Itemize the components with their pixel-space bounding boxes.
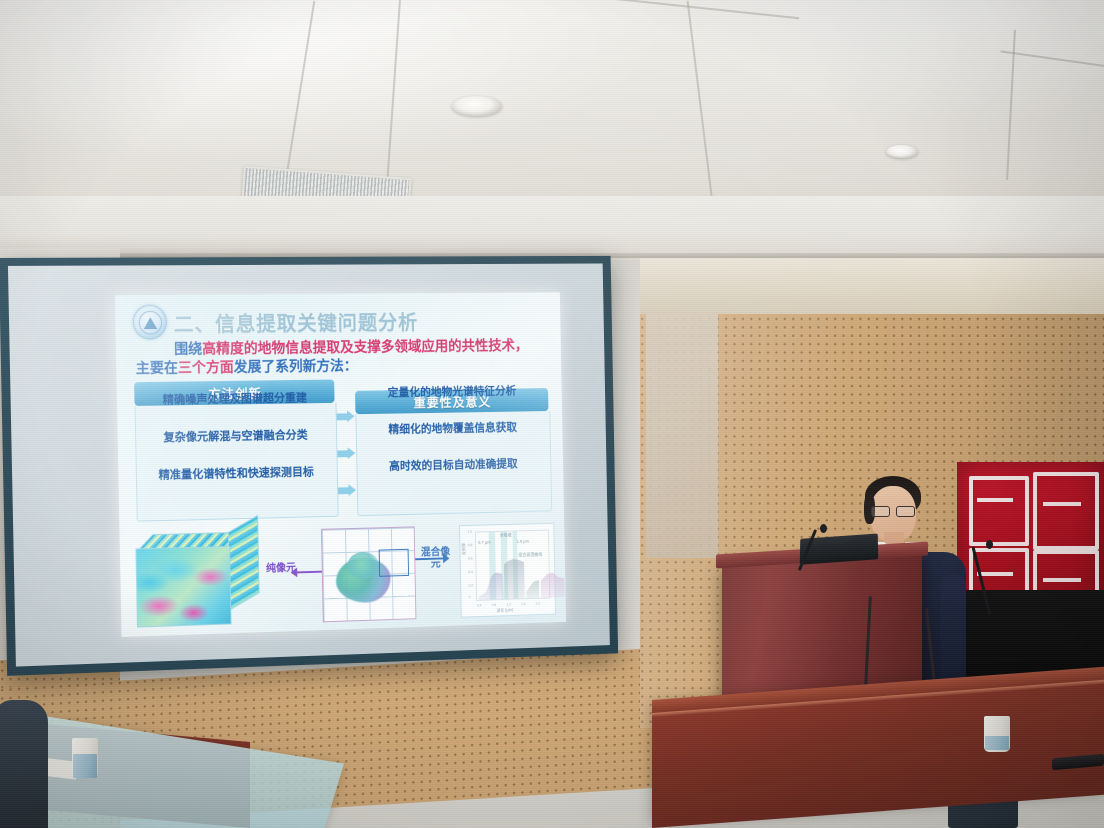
microphone-head [986,540,993,549]
table-row: 精细化的地物覆盖信息获取 [359,415,545,441]
paper-cup-band [985,736,1009,750]
chart-x-tick: 2.0 [536,602,540,606]
table-row: 精确噪声处理及图谱超分重建 [138,385,331,411]
chart-annotation: 水吸收 [500,533,512,539]
downlight-icon [886,145,918,158]
hyperspectral-cube-figure [135,531,260,625]
table-row: 定量化的地物光谱特征分析 [359,379,545,405]
slide-title-row: 二、信息提取关键问题分析 [133,303,419,340]
spectral-reflectance-chart: 反射率 0.7 μm 水吸收 1.9 μm 混合波谱曲线 [459,523,556,618]
projection-screen-frame: 二、信息提取关键问题分析 围绕高精度的地物信息提取及支撑多领域应用的共性技术， … [0,256,618,676]
chart-plot-area: 0.7 μm 水吸收 1.9 μm 混合波谱曲线 [475,530,550,601]
table-column-methods: 方法创新 精确噪声处理及图谱超分重建 复杂像元解混与空谱融合分类 精准量化谱特性… [134,379,337,522]
glasses-icon [871,506,915,515]
slide-figure-strip: 纯像元 混合像元 反射率 [133,520,556,628]
intro-text-blue: 围绕 [174,342,202,358]
pixel-grid-figure [321,526,416,622]
seal-script-stroke [1043,502,1081,506]
spectral-curve [541,568,565,597]
ceiling-soffit [0,196,1104,260]
microphone-head [820,524,827,533]
presentation-slide: 二、信息提取关键问题分析 围绕高精度的地物信息提取及支撑多领域应用的共性技术， … [115,292,566,637]
paper-cup-band [73,754,97,778]
slide-intro-line-2: 主要在三个方面发展了系列新方法： [136,355,358,378]
intro-text-blue: 主要在 [136,361,178,377]
institute-emblem-icon [133,305,168,340]
chart-legend-note: 混合波谱曲线 [518,552,542,558]
photo-scene: 二、信息提取关键问题分析 围绕高精度的地物信息提取及支撑多领域应用的共性技术， … [0,0,1104,828]
arrow-right-icon [337,410,355,423]
chart-x-tick: 0.4 [477,604,481,608]
intro-text-red: 三个方面 [178,360,234,376]
chart-y-axis-label: 反射率 [461,543,467,555]
seal-script-stroke [977,572,1013,576]
projection-screen-surface: 二、信息提取关键问题分析 围绕高精度的地物信息提取及支撑多领域应用的共性技术， … [8,264,610,667]
intro-text-blue: 发展了系列新方法： [234,359,358,376]
intro-text-red: 高精度的地物信息提取及支撑多领域应用的共性技术， [202,339,528,358]
downlight-icon [452,96,502,116]
chart-y-tick: 0.4 [468,570,473,574]
seal-script-glyph [969,476,1029,546]
spectral-curve [526,577,539,598]
mixed-pixel-label: 混合像元 [419,546,453,570]
chart-annotation: 0.7 μm [478,540,491,545]
selection-box [379,549,409,577]
emblem-triangle-icon [143,317,157,329]
chart-y-tick: 0.2 [468,584,473,588]
chart-y-tick: 0.8 [468,543,473,547]
chart-x-axis-label: 波长 (μm) [497,607,514,613]
cube-front-face [135,546,231,628]
table-row: 高时效的目标自动准确提取 [360,451,546,478]
comparison-table: 方法创新 精确噪声处理及图谱超分重建 复杂像元解混与空谱融合分类 精准量化谱特性… [134,377,550,523]
arrow-right-icon [337,447,355,460]
seal-script-glyph [1033,472,1099,550]
cube-side-face [228,515,260,611]
arrow-left-icon [297,571,324,574]
chart-x-tick: 1.6 [521,602,525,606]
wall-upper-band [640,258,1104,314]
seal-script-stroke [1043,578,1081,582]
arrow-right-icon [338,484,356,497]
table-column-significance: 重要性及意义 定量化的地物光谱特征分析 精细化的地物覆盖信息获取 高时效的目标自… [355,377,551,518]
chart-annotation: 1.9 μm [516,539,528,544]
chart-y-tick: 0 [469,595,471,599]
seal-script-stroke [977,498,1013,502]
chart-y-tick: 0.6 [468,557,473,561]
chart-x-tick: 1.2 [506,603,510,607]
table-row: 精准量化谱特性和快速探测目标 [140,459,333,487]
seated-attendee [0,700,48,828]
table-row: 复杂像元解混与空谱融合分类 [139,422,332,449]
chart-y-tick: 1.0 [467,530,472,534]
arm-right [940,574,966,694]
chart-x-tick: 0.8 [492,603,496,607]
slide-title: 二、信息提取关键问题分析 [173,305,418,336]
